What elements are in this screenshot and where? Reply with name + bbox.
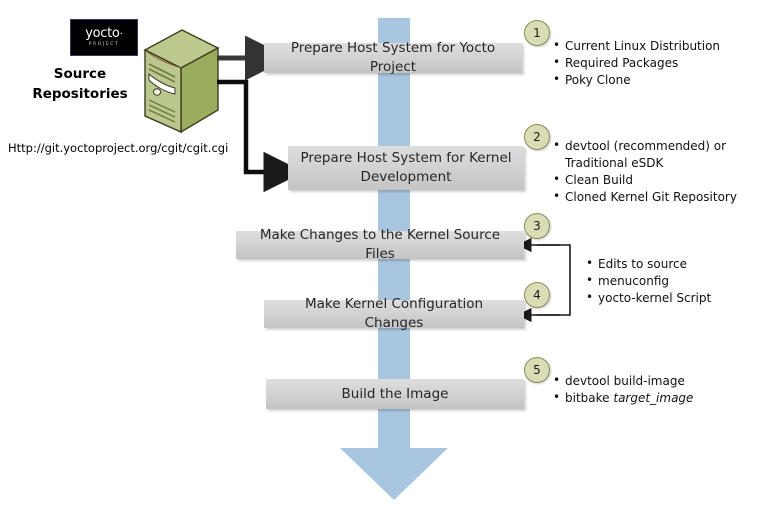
- source-repositories-line2: Repositories: [18, 84, 142, 104]
- list-item: menuconfig: [585, 273, 711, 290]
- step-1-bullet-list: Current Linux Distribution Required Pack…: [552, 38, 720, 89]
- list-item: devtool (recommended) or Traditional eSD…: [552, 138, 737, 172]
- list-item: Poky Clone: [552, 72, 720, 89]
- list-item: Cloned Kernel Git Repository: [552, 189, 737, 206]
- step-number-2: 2: [524, 124, 550, 150]
- process-box-prepare-host-kernel[interactable]: Prepare Host System for Kernel Developme…: [288, 146, 524, 190]
- logo-wordmark: yocto·: [85, 27, 123, 40]
- process-box-label: Make Changes to the Kernel Source Files: [246, 226, 514, 264]
- step-number-4: 4: [524, 282, 550, 308]
- step-number-label: 5: [533, 363, 541, 377]
- process-box-label: Prepare Host System for Yocto Project: [274, 39, 512, 77]
- server-tower-icon: [135, 28, 221, 138]
- logo-dot: ·: [120, 27, 123, 40]
- flow-arrowhead-icon: [340, 448, 448, 500]
- logo-word-text: yocto: [85, 26, 119, 41]
- list-item: bitbake target_image: [552, 390, 693, 407]
- step-number-5: 5: [524, 357, 550, 383]
- list-item: devtool build-image: [552, 373, 693, 390]
- process-box-label: Make Kernel Configuration Changes: [274, 295, 514, 333]
- process-box-build-image[interactable]: Build the Image: [266, 379, 524, 409]
- list-item-line2: Traditional eSDK: [565, 155, 737, 172]
- source-repositories-line1: Source: [18, 64, 142, 84]
- logo-subtitle: PROJECT: [89, 41, 120, 48]
- process-box-prepare-host-yocto[interactable]: Prepare Host System for Yocto Project: [264, 43, 522, 73]
- step-2-bullet-list: devtool (recommended) or Traditional eSD…: [552, 138, 737, 206]
- list-item: yocto-kernel Script: [585, 290, 711, 307]
- list-item: Required Packages: [552, 55, 720, 72]
- process-box-label: Prepare Host System for Kernel Developme…: [300, 149, 511, 187]
- step-number-label: 3: [533, 219, 541, 233]
- list-item: Edits to source: [585, 256, 711, 273]
- list-item: Clean Build: [552, 172, 737, 189]
- process-box-label: Build the Image: [342, 385, 449, 404]
- step-5-bullet-list: devtool build-image bitbake target_image: [552, 373, 693, 407]
- step-number-1: 1: [524, 20, 550, 46]
- list-item-argument: target_image: [613, 391, 693, 405]
- source-repositories-label: Source Repositories: [18, 64, 142, 104]
- yocto-project-logo: yocto· PROJECT: [70, 19, 138, 56]
- step-number-label: 1: [533, 26, 541, 40]
- process-box-make-kernel-source-changes[interactable]: Make Changes to the Kernel Source Files: [236, 231, 524, 259]
- step-number-label: 4: [533, 288, 541, 302]
- step-number-label: 2: [533, 130, 541, 144]
- step-number-3: 3: [524, 213, 550, 239]
- source-repositories-url: Http://git.yoctoproject.org/cgit/cgit.cg…: [8, 141, 228, 155]
- list-item-line1: devtool (recommended) or: [565, 139, 726, 153]
- process-box-make-kernel-config-changes[interactable]: Make Kernel Configuration Changes: [264, 300, 524, 328]
- process-box-label-line2: Development: [361, 169, 452, 185]
- process-box-label-line1: Prepare Host System for Kernel: [300, 150, 511, 166]
- diagram-canvas: yocto· PROJECT Source Repositories Http:…: [0, 0, 769, 517]
- list-item: Current Linux Distribution: [552, 38, 720, 55]
- list-item-command: bitbake: [565, 391, 613, 405]
- step-3-4-bullet-list: Edits to source menuconfig yocto-kernel …: [585, 256, 711, 307]
